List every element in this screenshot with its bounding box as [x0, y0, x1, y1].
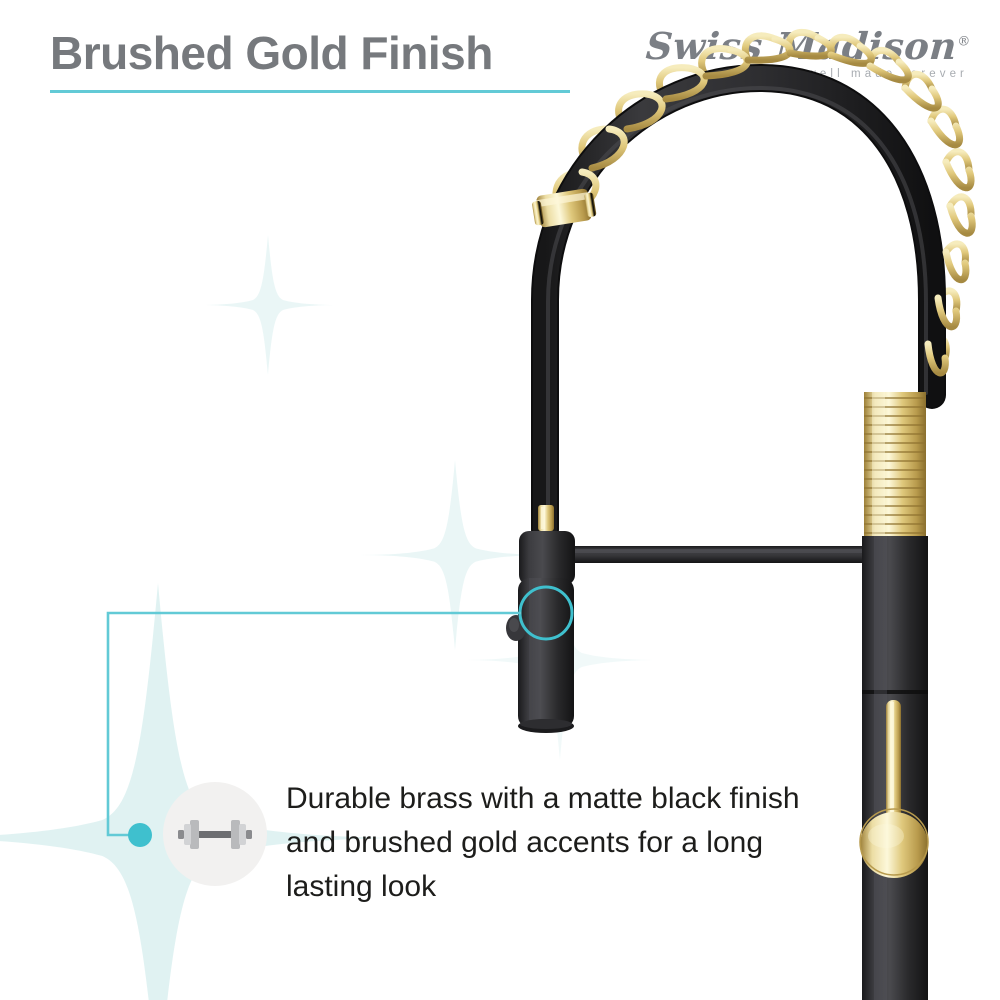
spout-arm	[560, 546, 896, 563]
dumbbell-icon	[163, 782, 267, 886]
marketing-image-canvas: Brushed Gold Finish Swiss Madison® well …	[0, 0, 1000, 1000]
feature-icon-badge	[163, 782, 267, 886]
hose-clamp	[532, 188, 597, 228]
feature-description: Durable brass with a matte black finish …	[286, 777, 806, 909]
tight-coil-column	[864, 392, 926, 544]
spray-head	[506, 505, 575, 733]
